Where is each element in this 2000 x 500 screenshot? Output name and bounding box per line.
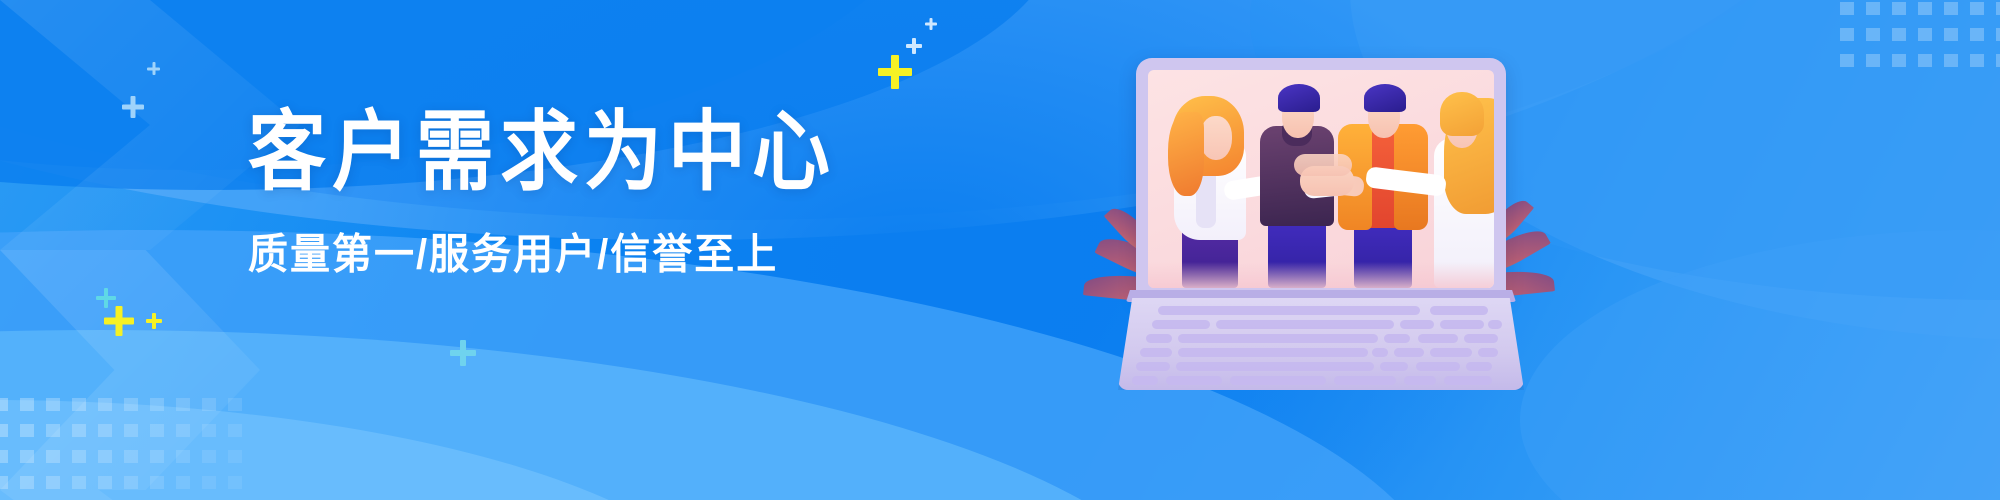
keyboard-key [1152,320,1210,329]
screen-floor-shadow [1148,262,1494,288]
keyboard-key [1146,334,1172,343]
keyboard-key [1178,334,1378,343]
person-3-hair [1364,84,1406,112]
keyboard-key [1178,348,1368,357]
person-1-woman-orange-hair [1166,92,1258,288]
plus-mark-top-left-small-icon [147,62,160,75]
banner-subheadline: 质量第一/服务用户/信誉至上 [248,234,888,276]
person-4-hair-front [1440,92,1484,136]
keyboard-key-space [1132,376,1158,385]
keyboard-key-space [1230,376,1326,385]
keyboard-key [1464,334,1498,343]
banner-headline: 客户需求为中心 [248,108,888,195]
keyboard-key [1400,320,1434,329]
plus-mark-yellow-right-icon [878,55,912,89]
banner-text-block: 客户需求为中心 质量第一/服务用户/信誉至上 [248,108,888,274]
plus-mark-cyan-bottom-icon [450,340,476,366]
keyboard-key [1430,306,1488,315]
joined-hands-upper [1294,154,1352,176]
keyboard-key [1478,348,1498,357]
keyboard-key [1416,362,1460,371]
keyboard-key [1418,334,1458,343]
keyboard-key [1158,306,1420,315]
keyboard-key-space [1334,376,1396,385]
keyboard-key [1140,348,1172,357]
person-1-hair-front [1168,112,1204,196]
keyboard-key-space [1404,376,1436,385]
plus-mark-top-left-icon [122,96,144,118]
keyboard-key [1430,348,1472,357]
keyboard-key [1216,320,1394,329]
laptop-teamwork-illustration [1118,40,1678,470]
person-1-face [1200,116,1232,160]
laptop-lid [1136,58,1506,298]
plus-mark-yellow-left-small-icon [146,313,162,329]
laptop-screen [1148,70,1494,288]
keyboard-key [1384,334,1410,343]
person-2-hair [1278,84,1320,112]
plus-mark-cyan-left-icon [96,288,116,308]
keyboard-key [1380,362,1408,371]
keyboard-key [1136,362,1170,371]
keyboard-key [1440,320,1484,329]
laptop-keyboard [1118,298,1524,390]
promo-banner: 客户需求为中心 质量第一/服务用户/信誉至上 [0,0,2000,500]
keyboard-key-space [1444,376,1492,385]
keyboard-key [1176,362,1374,371]
plus-mark-white-right-small-icon [925,18,937,30]
keyboard-key [1488,320,1502,329]
person-4-woman-blonde [1420,82,1494,288]
keyboard-key [1372,348,1388,357]
keyboard-key [1466,362,1492,371]
keyboard-key [1394,348,1424,357]
keyboard-key-space [1166,376,1222,385]
plus-mark-white-right-icon [906,38,922,54]
plus-mark-yellow-left-icon [104,306,134,336]
